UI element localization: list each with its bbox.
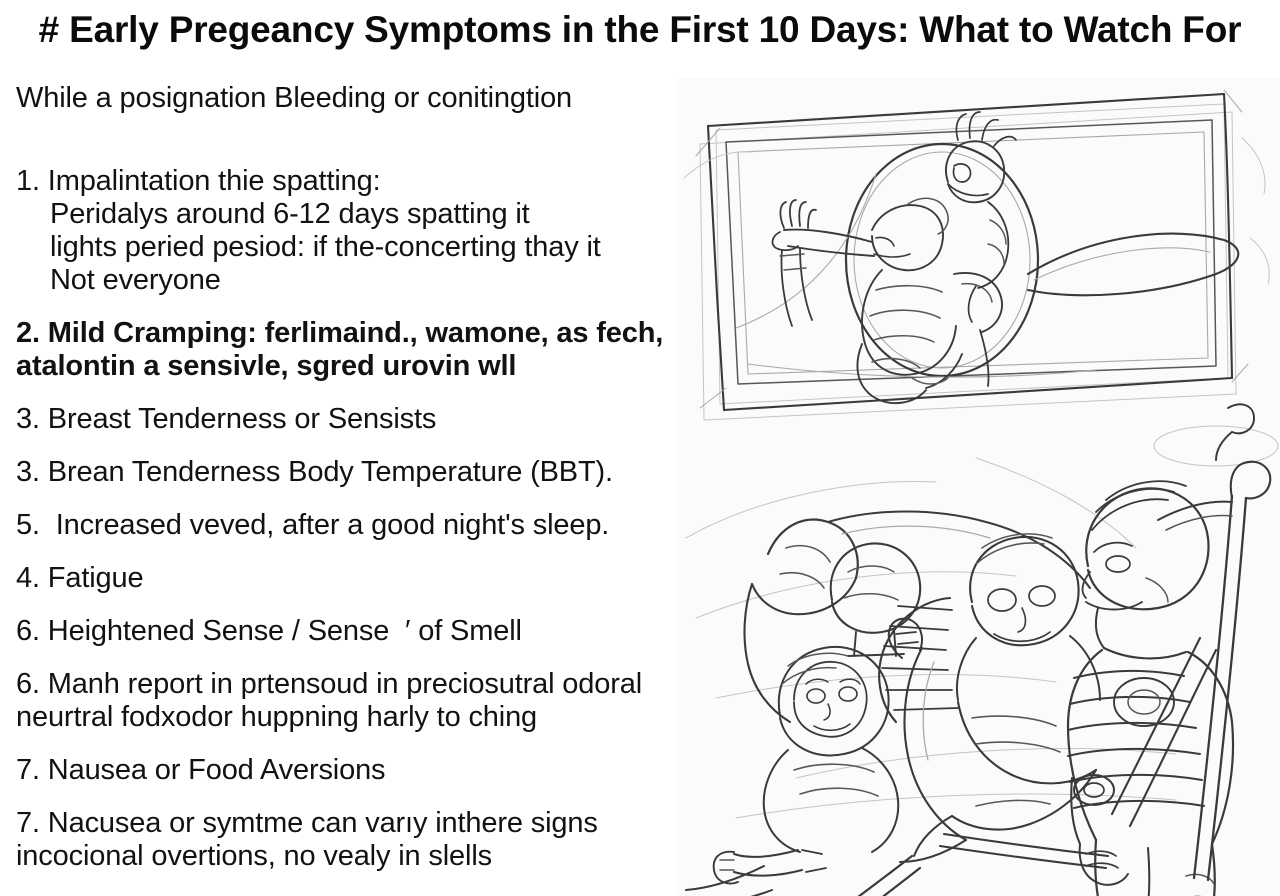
symptom-item-10: 7. Nacusea or symtme can varıy inthere s… — [16, 807, 676, 873]
symptom-line: lights peried pesiod: if the-concerting … — [16, 231, 676, 264]
symptom-item-7: 6. Heightened Sense / Sense ′ of Smell — [16, 615, 676, 648]
pencil-sketch-illustration — [676, 78, 1280, 896]
sketch-canvas — [676, 78, 1280, 896]
symptom-line: 6. Heightened Sense / Sense ′ of Smell — [16, 615, 676, 648]
symptom-line: neurtral fodxodor huppning harly to chin… — [16, 701, 676, 734]
symptom-line: 3. Breast Tenderness or Sensists — [16, 403, 676, 436]
symptom-item-4: 3. Brean Tenderness Body Temperature (BB… — [16, 456, 676, 489]
symptom-line: 3. Brean Tenderness Body Temperature (BB… — [16, 456, 676, 489]
article-body: While a posignation Bleeding or coniting… — [16, 82, 676, 882]
symptom-line: Not everyone — [16, 264, 676, 297]
symptom-line: 7. Nausea or Food Aversions — [16, 754, 676, 787]
symptom-line: 7. Nacusea or symtme can varıy inthere s… — [16, 807, 676, 840]
symptom-item-6: 4. Fatigue — [16, 562, 676, 595]
symptom-line: 4. Fatigue — [16, 562, 676, 595]
page-title: # Early Pregeancy Symptoms in the First … — [0, 8, 1280, 52]
symptom-line: 5. Increased veved, after a good night's… — [16, 509, 676, 542]
symptom-line: 1. Impalintation thie spatting: — [16, 165, 676, 198]
symptom-line: incocional overtions, no vealy in slells — [16, 840, 676, 873]
symptom-line: 6. Manh report in prtensoud in preciosut… — [16, 668, 676, 701]
symptom-item-8: 6. Manh report in prtensoud in preciosut… — [16, 668, 676, 734]
lead-paragraph: While a posignation Bleeding or coniting… — [16, 82, 676, 115]
symptom-line: Peridalys around 6-12 days spatting it — [16, 198, 676, 231]
symptom-line: 2. Mild Cramping: ferlimaind., wamone, a… — [16, 317, 676, 350]
symptom-line: atalontin a sensivle, sgred urovin wll — [16, 350, 676, 383]
symptom-item-9: 7. Nausea or Food Aversions — [16, 754, 676, 787]
symptom-item-1: 1. Impalintation thie spatting: Peridaly… — [16, 165, 676, 297]
symptom-item-2: 2. Mild Cramping: ferlimaind., wamone, a… — [16, 317, 676, 383]
paper-background — [676, 78, 1280, 896]
symptom-item-3: 3. Breast Tenderness or Sensists — [16, 403, 676, 436]
symptom-item-5: 5. Increased veved, after a good night's… — [16, 509, 676, 542]
